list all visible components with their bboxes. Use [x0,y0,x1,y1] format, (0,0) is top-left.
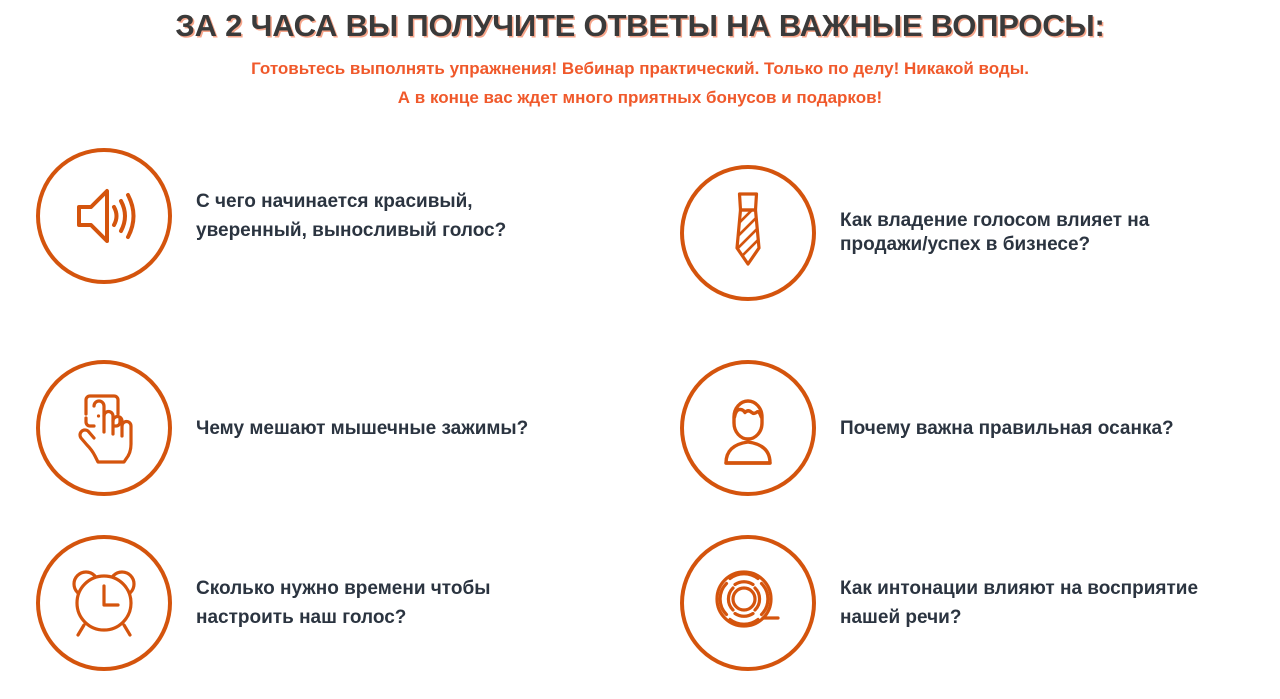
benefit-item-3: Чему мешают мышечные зажимы? [36,360,528,496]
benefit-item-4: Почему важна правильная осанка? [680,360,1174,496]
speaker-sound-icon [67,181,141,251]
benefit-icon-badge-6 [680,535,816,671]
benefit-item-6: Как интонации влияют на восприятие нашей… [680,535,1198,671]
benefit-label-6: Как интонации влияют на восприятие нашей… [840,574,1198,632]
benefit-item-5: Сколько нужно времени чтобы настроить на… [36,535,490,671]
benefits-page: ЗА 2 ЧАСА ВЫ ПОЛУЧИТЕ ОТВЕТЫ НА ВАЖНЫЕ В… [0,0,1280,699]
header: ЗА 2 ЧАСА ВЫ ПОЛУЧИТЕ ОТВЕТЫ НА ВАЖНЫЕ В… [0,0,1280,109]
person-posture-icon [710,389,786,467]
benefit-icon-badge-5 [36,535,172,671]
benefit-item-2: Как владение голосом влияет на продажи/у… [680,165,1149,301]
page-title: ЗА 2 ЧАСА ВЫ ПОЛУЧИТЕ ОТВЕТЫ НА ВАЖНЫЕ В… [0,0,1280,44]
benefit-label-1: С чего начинается красивый, уверенный, в… [196,187,506,245]
alarm-clock-icon [64,565,144,641]
benefits-grid: С чего начинается красивый, уверенный, в… [0,130,1280,699]
benefit-icon-badge-4 [680,360,816,496]
benefit-label-5: Сколько нужно времени чтобы настроить на… [196,574,490,632]
hand-touch-icon [68,390,140,466]
benefit-icon-badge-3 [36,360,172,496]
benefit-label-2: Как владение голосом влияет на продажи/у… [840,209,1149,257]
subtitle-line-2: А в конце вас ждет много приятных бонусо… [0,80,1280,109]
benefit-icon-badge-1 [36,148,172,284]
subtitle-line-1: Готовьтесь выполнять упражнения! Вебинар… [0,44,1280,80]
necktie-icon [718,190,778,276]
benefit-label-4: Почему важна правильная осанка? [840,414,1174,443]
benefit-label-3: Чему мешают мышечные зажимы? [196,414,528,443]
benefit-icon-badge-2 [680,165,816,301]
benefit-item-1: С чего начинается красивый, уверенный, в… [36,148,506,284]
sound-wave-circle-icon [708,565,788,641]
